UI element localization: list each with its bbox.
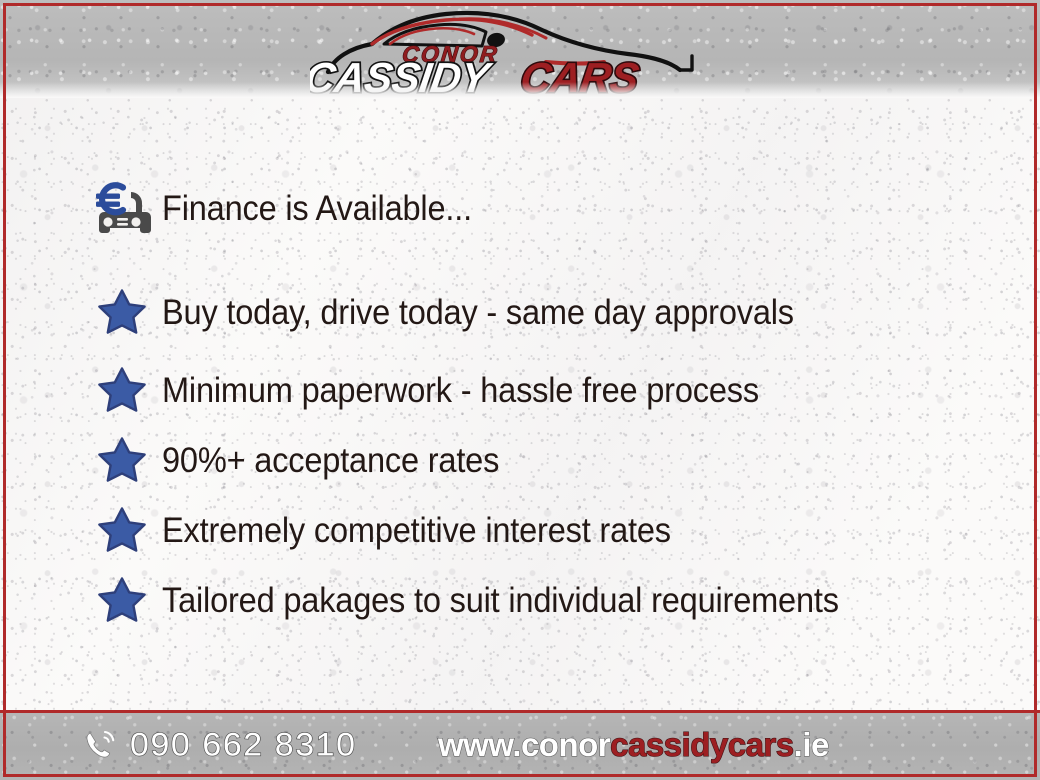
bullet-text: Minimum paperwork - hassle free process (162, 371, 759, 411)
bullet-row: Extremely competitive interest rates (88, 504, 709, 558)
finance-icon-svg (90, 178, 154, 240)
star-icon (88, 504, 156, 558)
bullet-row: Minimum paperwork - hassle free process (88, 364, 804, 418)
bullet-text: 90%+ acceptance rates (162, 441, 499, 481)
star-icon (88, 286, 156, 340)
phone-ringing-icon (82, 727, 118, 763)
bullet-row: 90%+ acceptance rates (88, 434, 525, 488)
main-content: Finance is Available... Buy today, drive… (0, 98, 1040, 710)
bullet-row: Tailored pakages to suit individual requ… (88, 574, 890, 628)
euro-symbol (96, 185, 123, 212)
star-icon (88, 434, 156, 488)
headline-row: Finance is Available... (88, 178, 495, 240)
website-prefix: www.conor (438, 726, 610, 763)
footer-band: 090 662 8310 www.conorcassidycars.ie (0, 710, 1040, 780)
bullet-row: Buy today, drive today - same day approv… (88, 286, 841, 340)
phone-contact[interactable]: 090 662 8310 (82, 727, 344, 764)
star-icon (88, 364, 156, 418)
phone-number[interactable]: 090 662 8310 (130, 727, 357, 764)
bullet-text: Tailored pakages to suit individual requ… (162, 581, 839, 621)
header-bottom-fade (0, 82, 1040, 98)
website-tld: .ie (794, 726, 829, 763)
advertisement-poster: CONOR CASSIDY CARS (0, 0, 1040, 780)
star-icon (88, 574, 156, 628)
bullet-text: Buy today, drive today - same day approv… (162, 293, 794, 333)
website-url[interactable]: www.conorcassidycars.ie (438, 726, 829, 764)
website-brand: cassidycars (610, 726, 794, 763)
headline-text: Finance is Available... (162, 189, 472, 229)
finance-car-euro-icon (88, 178, 156, 240)
bullet-text: Extremely competitive interest rates (162, 511, 671, 551)
header-band: CONOR CASSIDY CARS (0, 0, 1040, 98)
